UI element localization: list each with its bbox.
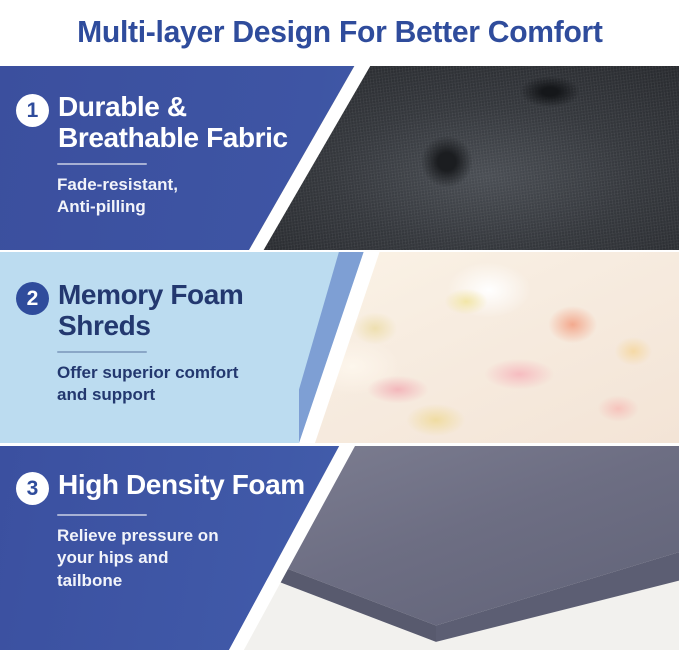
panel-3-heading: High Density Foam [58, 470, 305, 501]
panel-3-heading-row: 3 High Density Foam [16, 446, 330, 505]
step-number-badge-2: 2 [16, 282, 49, 315]
panel-2-heading: Memory Foam Shreds [58, 280, 330, 342]
panel-3-subtext: Relieve pressure on your hips and tailbo… [57, 525, 330, 592]
panel-1-subtext: Fade-resistant, Anti-pilling [57, 174, 330, 219]
feature-panel-1: 1 Durable & Breathable Fabric Fade-resis… [0, 66, 679, 250]
feature-panel-3: 3 High Density Foam Relieve pressure on … [0, 446, 679, 650]
step-number-badge-3: 3 [16, 472, 49, 505]
infographic-root: Multi-layer Design For Better Comfort 1 … [0, 0, 679, 650]
panel-1-heading: Durable & Breathable Fabric [58, 92, 330, 154]
panel-2-divider [57, 351, 147, 353]
panel-1-content: 1 Durable & Breathable Fabric Fade-resis… [0, 66, 330, 250]
feature-panel-2: 2 Memory Foam Shreds Offer superior comf… [0, 252, 679, 443]
step-number-badge-1: 1 [16, 94, 49, 127]
panel-1-divider [57, 163, 147, 165]
panel-2-content: 2 Memory Foam Shreds Offer superior comf… [0, 252, 330, 443]
panel-2-heading-row: 2 Memory Foam Shreds [16, 252, 330, 342]
page-title: Multi-layer Design For Better Comfort [77, 14, 603, 50]
panel-3-divider [57, 514, 147, 516]
panel-2-subtext: Offer superior comfort and support [57, 362, 330, 407]
panel-3-content: 3 High Density Foam Relieve pressure on … [0, 446, 330, 650]
title-bar: Multi-layer Design For Better Comfort [0, 0, 679, 64]
panel-1-heading-row: 1 Durable & Breathable Fabric [16, 66, 330, 154]
